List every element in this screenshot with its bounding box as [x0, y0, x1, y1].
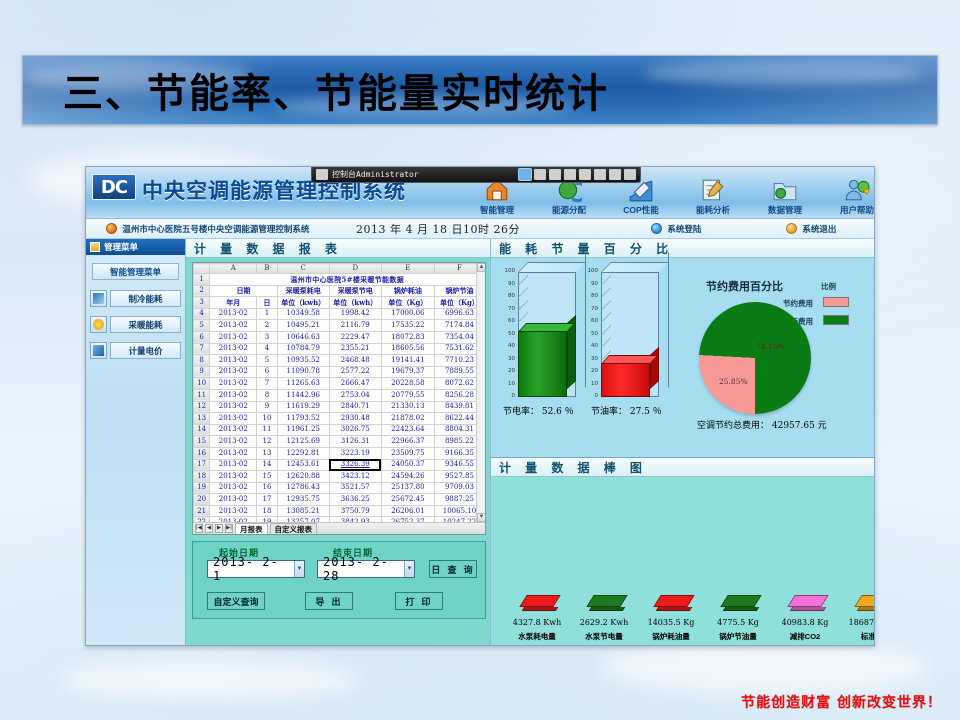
- cell-pump-power[interactable]: 11265.63: [277, 378, 329, 390]
- current-datetime: 2013 年 4 月 18 日10时 26分: [356, 221, 520, 237]
- metric-slab-side: [656, 607, 692, 611]
- col-header-a[interactable]: A: [210, 264, 257, 274]
- cell-year-month[interactable]: 2013-02: [210, 459, 257, 471]
- cell-pump-power[interactable]: 12620.88: [277, 471, 329, 483]
- table-row[interactable]: 122013-02911619.292840.7121330.138439.81: [194, 401, 485, 413]
- cell-pump-saving[interactable]: 2355.21: [329, 343, 381, 355]
- mouse-icon[interactable]: [534, 169, 546, 180]
- cell-boiler-oil[interactable]: 19141.41: [381, 355, 434, 367]
- metric-slab-side: [522, 607, 558, 611]
- cell-year-month[interactable]: 2013-02: [210, 308, 257, 320]
- y-tick-label: 50: [503, 331, 515, 337]
- cell-day[interactable]: 16: [257, 482, 277, 494]
- header-unit-d: 单位（kwh）: [329, 297, 381, 309]
- y-tick-label: 50: [586, 331, 598, 337]
- y-tick-label: 70: [586, 306, 598, 312]
- cell-pump-saving[interactable]: 3126.31: [329, 436, 381, 448]
- system-login-button[interactable]: 系统登陆: [651, 223, 701, 235]
- cell-year-month[interactable]: 2013-02: [210, 401, 257, 413]
- start-date-value: 2013- 2- 1: [208, 555, 294, 583]
- menu-icon: [90, 242, 100, 252]
- row-number[interactable]: 11: [194, 389, 210, 401]
- row-number[interactable]: 9: [194, 366, 210, 378]
- cell-boiler-oil[interactable]: 20779.55: [381, 389, 434, 401]
- metric-slab: [519, 595, 560, 607]
- cell-pump-saving[interactable]: 2930.48: [329, 413, 381, 425]
- system-icon: [106, 223, 117, 234]
- report-title: 计 量 数 据 报 表: [186, 239, 490, 258]
- cell-day[interactable]: 14: [257, 459, 277, 471]
- cell-day[interactable]: 2: [257, 320, 277, 332]
- row-number[interactable]: 14: [194, 424, 210, 436]
- table-row[interactable]: 192013-021612786.433521.5725137.809709.0…: [194, 482, 485, 494]
- toolbar-label: 用户帮助: [840, 204, 874, 216]
- table-row[interactable]: 102013-02711265.632666.4720228.588072.62: [194, 378, 485, 390]
- cell-pump-power[interactable]: 10495.21: [277, 320, 329, 332]
- table-row[interactable]: 142013-021111961.253026.7522423.648804.3…: [194, 424, 485, 436]
- chevron-down-icon[interactable]: ▼: [294, 561, 304, 577]
- y-tick-label: 0: [503, 393, 515, 399]
- legend-title: 比例: [821, 281, 836, 292]
- oil-saving-rate-caption: 节油率： 27.5 ％: [591, 404, 662, 417]
- y-tick-label: 30: [586, 356, 598, 362]
- cell-pump-power[interactable]: 11793.52: [277, 413, 329, 425]
- legend-swatch-actual: [823, 315, 849, 325]
- end-date-input[interactable]: 2013- 2-28 ▼: [317, 560, 415, 578]
- sidebar: 管理菜单 智能管理菜单 制冷能耗 采暖能耗 计量电价: [86, 239, 186, 646]
- table-row[interactable]: 42013-02110349.581998.4217000.066996.63: [194, 308, 485, 320]
- cell-boiler-oil[interactable]: 18072.83: [381, 331, 434, 343]
- toolbar-item-user-help[interactable]: 用户帮助: [821, 168, 875, 218]
- pie-value-actual: 74.15%: [756, 342, 785, 351]
- cell-pump-saving[interactable]: 2229.47: [329, 331, 381, 343]
- cell-pump-power[interactable]: 13085.21: [277, 505, 329, 517]
- cell-year-month[interactable]: 2013-02: [210, 505, 257, 517]
- notebook-pen-icon: [700, 177, 726, 203]
- table-row[interactable]: 3 年月 日 单位（kwh） 单位（kwh） 单位（Kg） 单位（Kg）: [194, 297, 485, 309]
- cell-boiler-oil[interactable]: 25137.80: [381, 482, 434, 494]
- y-tick-label: 90: [586, 281, 598, 287]
- site-name: 温州市中心医院五号楼中央空调能源管理控制系统: [106, 223, 309, 235]
- pie-value-saving: 25.85%: [719, 377, 748, 386]
- cell-pump-power[interactable]: 12125.69: [277, 436, 329, 448]
- bar-front: [518, 331, 567, 397]
- y-tick-label: 90: [503, 281, 515, 287]
- row-number[interactable]: 10: [194, 378, 210, 390]
- bar-top: [518, 323, 575, 332]
- screen-icon[interactable]: [519, 169, 531, 180]
- header-unit-e: 单位（Kg）: [381, 297, 434, 309]
- cell-pump-saving[interactable]: 2840.71: [329, 401, 381, 413]
- report-panel: 计 量 数 据 报 表 A B C D E: [186, 239, 491, 646]
- cell-day[interactable]: 6: [257, 366, 277, 378]
- toolbar-item-data-management[interactable]: 数据管理: [749, 168, 821, 218]
- cell-year-month[interactable]: 2013-02: [210, 355, 257, 367]
- toolbar-label: 能源分配: [552, 204, 586, 216]
- cell-day[interactable]: 13: [257, 447, 277, 459]
- metric-slab-side: [723, 607, 759, 611]
- heating-icon: [90, 316, 107, 333]
- hand-icon[interactable]: [594, 169, 606, 180]
- cell-day[interactable]: 1: [257, 308, 277, 320]
- toolbar-label: 智能管理: [480, 204, 514, 216]
- table-row[interactable]: 52013-02210495.212116.7917535.227174.84: [194, 320, 485, 332]
- system-logout-button[interactable]: 系统退出: [786, 223, 836, 235]
- table-row[interactable]: 1 温州市中心医院5#楼采暖节能数据: [194, 274, 485, 286]
- cell-boiler-oil[interactable]: 22966.37: [381, 436, 434, 448]
- sidebar-item-label: 采暖能耗: [110, 316, 181, 333]
- cell-pump-saving[interactable]: 3636.25: [329, 494, 381, 506]
- cell-boiler-oil[interactable]: 20228.58: [381, 378, 434, 390]
- bar-top: [601, 355, 658, 364]
- header-date: 日期: [210, 285, 277, 297]
- col-header-b[interactable]: B: [257, 264, 277, 274]
- cell-boiler-oil[interactable]: 18605.56: [381, 343, 434, 355]
- cell-day[interactable]: 7: [257, 378, 277, 390]
- header-pump-saving: 采暖泵节电: [329, 285, 381, 297]
- folder-icon[interactable]: [549, 169, 561, 180]
- y-tick-label: 100: [586, 268, 598, 274]
- legend-swatch-saving: [823, 297, 849, 307]
- cell-pump-saving[interactable]: 1998.42: [329, 308, 381, 320]
- cell-day[interactable]: 17: [257, 494, 277, 506]
- y-tick-label: 70: [503, 306, 515, 312]
- table-row[interactable]: 182013-021512620.883423.1224594.269527.8…: [194, 471, 485, 483]
- metric-caption: 标准煤: [832, 631, 875, 642]
- cell-boiler-oil[interactable]: 25672.45: [381, 494, 434, 506]
- cell-pump-power[interactable]: 12935.75: [277, 494, 329, 506]
- last-sheet-icon[interactable]: ▶|: [225, 524, 233, 533]
- cell-boiler-oil[interactable]: 21330.13: [381, 401, 434, 413]
- monitor-icon: [316, 169, 328, 180]
- row-number[interactable]: 17: [194, 459, 210, 471]
- table-row[interactable]: 162013-021312292.813223.1923509.759166.3…: [194, 447, 485, 459]
- cell-pump-power[interactable]: 11619.29: [277, 401, 329, 413]
- col-header-e[interactable]: E: [381, 264, 434, 274]
- cell-pump-saving[interactable]: 2116.79: [329, 320, 381, 332]
- cell-pump-power[interactable]: 11442.96: [277, 389, 329, 401]
- cell-day[interactable]: 11: [257, 424, 277, 436]
- table-row[interactable]: 172013-021412453.613326.3924050.379346.5…: [194, 459, 485, 471]
- cell-pump-power[interactable]: 12453.61: [277, 459, 329, 471]
- prev-sheet-icon[interactable]: ◀: [205, 524, 213, 533]
- sidebar-item-heating[interactable]: 采暖能耗: [90, 316, 181, 333]
- header-pump-power: 采暖泵耗电: [277, 285, 329, 297]
- cell-day[interactable]: 3: [257, 331, 277, 343]
- row-number[interactable]: 8: [194, 355, 210, 367]
- cell-day[interactable]: 4: [257, 343, 277, 355]
- sky-decoration: [60, 660, 360, 700]
- pie-graphic: [699, 302, 811, 414]
- y-tick-label: 60: [503, 318, 515, 324]
- cell-pump-saving[interactable]: 3326.39: [329, 459, 381, 471]
- scroll-down-icon[interactable]: ▼: [477, 513, 486, 522]
- table-row[interactable]: 92013-02611090.782577.2219679.377889.55: [194, 366, 485, 378]
- chevron-down-icon[interactable]: ▼: [404, 561, 414, 577]
- cell-pump-saving[interactable]: 3521.57: [329, 482, 381, 494]
- cell-boiler-oil[interactable]: 21878.02: [381, 413, 434, 425]
- y-tick-label: 20: [586, 368, 598, 374]
- cell-pump-saving[interactable]: 3223.19: [329, 447, 381, 459]
- sidebar-item-price-meter[interactable]: 计量电价: [90, 342, 181, 359]
- row-number[interactable]: 1: [194, 274, 210, 286]
- cell-boiler-oil[interactable]: 19679.37: [381, 366, 434, 378]
- scroll-up-icon[interactable]: ▲: [477, 263, 486, 272]
- metric-slab: [653, 595, 694, 607]
- toolbar-label: COP性能: [623, 204, 658, 216]
- table-row[interactable]: 202013-021712935.753636.2525672.459887.2…: [194, 494, 485, 506]
- row-number[interactable]: 5: [194, 320, 210, 332]
- cell-year-month[interactable]: 2013-02: [210, 494, 257, 506]
- column-letter-row: A B C D E F: [194, 264, 485, 274]
- metering-bar-chart: 4327.8 Kwh水泵耗电量2629.2 Kwh水泵节电量14035.5 Kg…: [491, 477, 874, 646]
- table-row[interactable]: 82013-02510935.522468.4819141.417710.23: [194, 355, 485, 367]
- y-tick-label: 80: [586, 293, 598, 299]
- refresh-icon: [651, 223, 662, 234]
- y-tick-label: 30: [503, 356, 515, 362]
- cell-day[interactable]: 5: [257, 355, 277, 367]
- cell-pump-power[interactable]: 10784.79: [277, 343, 329, 355]
- cell-boiler-oil[interactable]: 23509.75: [381, 447, 434, 459]
- metric-slab-side: [857, 607, 875, 611]
- cell-day[interactable]: 8: [257, 389, 277, 401]
- app-body: 管理菜单 智能管理菜单 制冷能耗 采暖能耗 计量电价: [86, 239, 874, 646]
- cooling-icon: [90, 290, 107, 307]
- cell-day[interactable]: 18: [257, 505, 277, 517]
- fullscreen-icon[interactable]: [579, 169, 591, 180]
- cell-pump-saving[interactable]: 3026.75: [329, 424, 381, 436]
- sheet-title-cell: 温州市中心医院5#楼采暖节能数据: [210, 274, 485, 286]
- cell-pump-saving[interactable]: 2468.48: [329, 355, 381, 367]
- metric-slab-side: [790, 607, 826, 611]
- y-tick-label: 0: [586, 393, 598, 399]
- sky-decoration: [600, 640, 930, 695]
- end-date-value: 2013- 2-28: [318, 555, 404, 583]
- app-header: DC 中央空调能源管理控制系统 控制台Administrator: [86, 167, 874, 219]
- sheet-tab-monthly[interactable]: 月报表: [235, 523, 268, 534]
- col-header-d[interactable]: D: [329, 264, 381, 274]
- cell-year-month[interactable]: 2013-02: [210, 436, 257, 448]
- cell-pump-saving[interactable]: 2666.47: [329, 378, 381, 390]
- folder-globe-icon: [772, 177, 798, 203]
- cell-boiler-oil[interactable]: 17535.22: [381, 320, 434, 332]
- row-number[interactable]: 19: [194, 482, 210, 494]
- sheet-corner[interactable]: [194, 264, 210, 274]
- slide-title-banner: 三、节能率、节能量实时统计: [22, 55, 938, 125]
- y-tick-label: 40: [503, 343, 515, 349]
- energy-percent-chart: 0102030405060708090100 01020304050607080…: [491, 258, 874, 458]
- row-number[interactable]: 2: [194, 285, 210, 297]
- export-button[interactable]: 导 出: [305, 592, 353, 610]
- console-toolbar[interactable]: 控制台Administrator: [311, 166, 641, 183]
- header-day: 日: [257, 297, 277, 309]
- row-number[interactable]: 3: [194, 297, 210, 309]
- header-boiler-oil: 锅炉耗油: [381, 285, 434, 297]
- table-row[interactable]: 152013-021212125.693126.3122966.378985.2…: [194, 436, 485, 448]
- cell-pump-power[interactable]: 10349.58: [277, 308, 329, 320]
- query-form: 起始日期 结束日期 2013- 2- 1 ▼ 2013- 2-28 ▼ 日 查 …: [192, 541, 486, 619]
- user-help-icon: [844, 177, 870, 203]
- cell-boiler-oil[interactable]: 24050.37: [381, 459, 434, 471]
- toolbar-label: 数据管理: [768, 204, 802, 216]
- y-tick-label: 10: [503, 381, 515, 387]
- row-number[interactable]: 18: [194, 471, 210, 483]
- legend-label-saving: 节约费用: [783, 298, 813, 309]
- cell-day[interactable]: 9: [257, 401, 277, 413]
- table-row[interactable]: 112013-02811442.962753.0420779.558256.28: [194, 389, 485, 401]
- cell-day[interactable]: 12: [257, 436, 277, 448]
- cell-year-month[interactable]: 2013-02: [210, 366, 257, 378]
- report-table: A B C D E F 1 温州市中心医院5#楼采暖节能数据: [193, 263, 485, 529]
- row-number[interactable]: 4: [194, 308, 210, 320]
- cell-year-month[interactable]: 2013-02: [210, 413, 257, 425]
- toolbar-item-consumption-analysis[interactable]: 能耗分析: [677, 168, 749, 218]
- app-logo: DC: [92, 174, 136, 200]
- print-button[interactable]: 打 印: [395, 592, 443, 610]
- y-tick-label: 100: [503, 268, 515, 274]
- row-number[interactable]: 13: [194, 413, 210, 425]
- metric-slab: [854, 595, 875, 607]
- row-number[interactable]: 21: [194, 505, 210, 517]
- sidebar-item-smart-menu[interactable]: 智能管理菜单: [92, 263, 179, 280]
- sidebar-item-label: 计量电价: [110, 342, 181, 359]
- power-saving-rate-caption: 节电率： 52.6 ％: [503, 404, 574, 417]
- total-saving-cost: 空调节约总费用： 42957.65 元: [697, 418, 827, 431]
- cell-pump-power[interactable]: 12786.43: [277, 482, 329, 494]
- cell-year-month[interactable]: 2013-02: [210, 424, 257, 436]
- first-sheet-icon[interactable]: |◀: [195, 524, 203, 533]
- y-tick-label: 40: [586, 343, 598, 349]
- metric-slab: [586, 595, 627, 607]
- metric-slab: [720, 595, 761, 607]
- sheet-tab-bar: |◀ ◀ ▶ ▶| 月报表 自定义报表: [193, 522, 485, 534]
- row-number[interactable]: 6: [194, 331, 210, 343]
- next-sheet-icon[interactable]: ▶: [215, 524, 223, 533]
- energy-percent-title: 能 耗 节 量 百 分 比: [491, 239, 874, 258]
- col-header-c[interactable]: C: [277, 264, 329, 274]
- sidebar-header: 管理菜单: [86, 239, 185, 255]
- sidebar-item-label: 制冷能耗: [110, 290, 181, 307]
- cell-pump-saving[interactable]: 2753.04: [329, 389, 381, 401]
- y-tick-label: 80: [503, 293, 515, 299]
- spreadsheet[interactable]: A B C D E F 1 温州市中心医院5#楼采暖节能数据: [192, 262, 486, 535]
- day-query-button[interactable]: 日 查 询: [429, 560, 477, 578]
- price-meter-icon: [90, 342, 107, 359]
- volume-icon[interactable]: [624, 169, 636, 180]
- sheet-tab-custom[interactable]: 自定义报表: [270, 523, 318, 534]
- cell-pump-power[interactable]: 10646.63: [277, 331, 329, 343]
- cell-year-month[interactable]: 2013-02: [210, 447, 257, 459]
- bar-front: [601, 363, 650, 397]
- cell-boiler-oil[interactable]: 24594.26: [381, 471, 434, 483]
- pie-title: 节约费用百分比: [706, 278, 783, 294]
- custom-query-button[interactable]: 自定义查询: [207, 592, 265, 610]
- row-number[interactable]: 20: [194, 494, 210, 506]
- cell-pump-saving[interactable]: 3750.79: [329, 505, 381, 517]
- cell-boiler-oil[interactable]: 22423.64: [381, 424, 434, 436]
- cell-year-month[interactable]: 2013-02: [210, 471, 257, 483]
- cell-pump-saving[interactable]: 3423.12: [329, 471, 381, 483]
- cell-pump-power[interactable]: 11961.25: [277, 424, 329, 436]
- row-number[interactable]: 7: [194, 343, 210, 355]
- sidebar-item-cooling[interactable]: 制冷能耗: [90, 290, 181, 307]
- table-row[interactable]: 62013-02310646.632229.4718072.837354.04: [194, 331, 485, 343]
- metric-slab: [787, 595, 828, 607]
- console-label: 控制台Administrator: [332, 169, 419, 180]
- cell-day[interactable]: 15: [257, 471, 277, 483]
- table-row[interactable]: 132013-021011793.522930.4821878.028622.4…: [194, 413, 485, 425]
- keyboard-icon[interactable]: [609, 169, 621, 180]
- cell-boiler-oil[interactable]: 26206.01: [381, 505, 434, 517]
- cell-year-month[interactable]: 2013-02: [210, 389, 257, 401]
- cell-year-month[interactable]: 2013-02: [210, 378, 257, 390]
- cell-year-month[interactable]: 2013-02: [210, 331, 257, 343]
- table-row[interactable]: 212013-021813085.213750.7926206.0110065.…: [194, 505, 485, 517]
- selected-cell-value: 3326.39: [341, 460, 370, 468]
- metric-value: 18687.6 Kg: [832, 618, 875, 627]
- start-date-input[interactable]: 2013- 2- 1 ▼: [207, 560, 305, 578]
- table-row[interactable]: 72013-02410784.792355.2118605.567531.62: [194, 343, 485, 355]
- cell-year-month[interactable]: 2013-02: [210, 343, 257, 355]
- header-year-month: 年月: [210, 297, 257, 309]
- cell-day[interactable]: 10: [257, 413, 277, 425]
- cell-year-month[interactable]: 2013-02: [210, 482, 257, 494]
- cell-year-month[interactable]: 2013-02: [210, 320, 257, 332]
- row-number[interactable]: 16: [194, 447, 210, 459]
- cell-pump-saving[interactable]: 2577.22: [329, 366, 381, 378]
- charts-panel: 能 耗 节 量 百 分 比 0102030405060708090100: [491, 239, 874, 646]
- cell-pump-power[interactable]: 11090.78: [277, 366, 329, 378]
- toolbar-label: 能耗分析: [696, 204, 730, 216]
- sheet-body: 1 温州市中心医院5#楼采暖节能数据 2 日期 采暖泵耗电 采暖泵节电 锅炉耗油…: [194, 274, 485, 529]
- status-bar: 温州市中心医院五号楼中央空调能源管理控制系统 2013 年 4 月 18 日10…: [86, 219, 874, 239]
- application-window: DC 中央空调能源管理控制系统 控制台Administrator: [85, 166, 875, 646]
- row-number[interactable]: 15: [194, 436, 210, 448]
- cell-pump-power[interactable]: 12292.81: [277, 447, 329, 459]
- sheet-vertical-scrollbar[interactable]: ▲ ▼: [476, 263, 485, 522]
- table-row[interactable]: 2 日期 采暖泵耗电 采暖泵节电 锅炉耗油 锅炉节油: [194, 285, 485, 297]
- metric-slab-side: [589, 607, 625, 611]
- cell-pump-power[interactable]: 10935.52: [277, 355, 329, 367]
- page-title: 三、节能率、节能量实时统计: [63, 61, 609, 119]
- cell-boiler-oil[interactable]: 17000.06: [381, 308, 434, 320]
- header-unit-c: 单位（kwh）: [277, 297, 329, 309]
- y-tick-label: 10: [586, 381, 598, 387]
- exit-icon: [786, 223, 797, 234]
- footer-slogan: 节能创造财富 创新改变世界！: [741, 692, 942, 712]
- y-tick-label: 20: [503, 368, 515, 374]
- y-tick-label: 60: [586, 318, 598, 324]
- metering-bar-title: 计 量 数 据 棒 图: [491, 458, 874, 477]
- cursor-icon[interactable]: [564, 169, 576, 180]
- row-number[interactable]: 12: [194, 401, 210, 413]
